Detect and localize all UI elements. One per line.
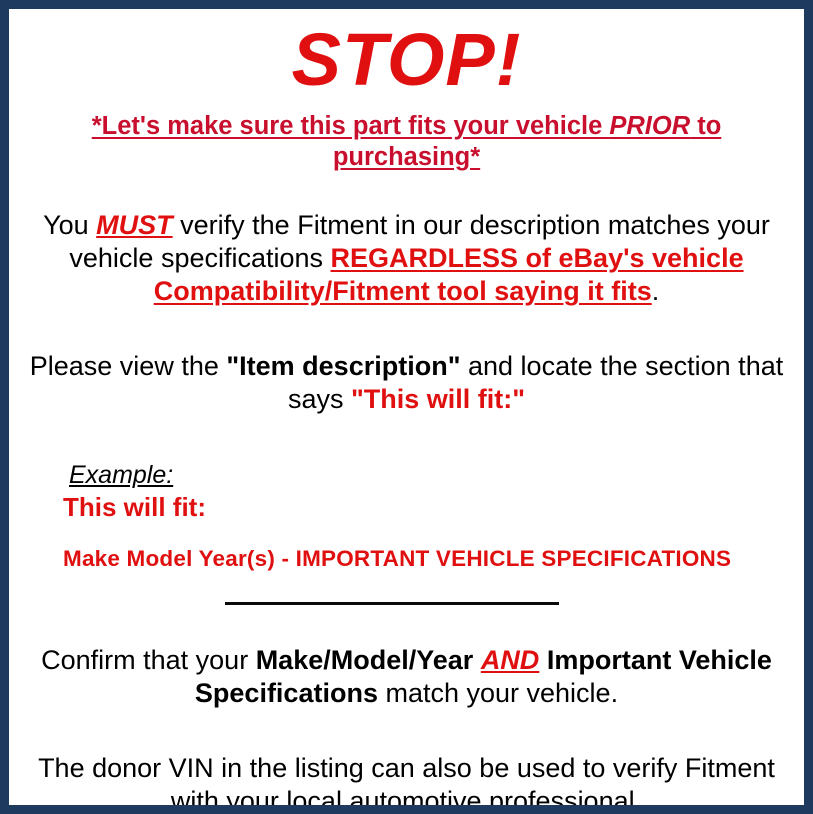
notice-content: STOP! *Let's make sure this part fits yo… [9, 9, 804, 805]
subtitle-line: *Let's make sure this part fits your veh… [21, 111, 792, 172]
stop-title: STOP! [21, 9, 792, 105]
subtitle-emphasis-prior: PRIOR [609, 112, 690, 140]
example-block: Example: This will fit: Make Model Year(… [21, 460, 792, 572]
make-model-year-emphasis: Make/Model/Year [256, 645, 474, 675]
donor-vin-paragraph: The donor VIN in the listing can also be… [21, 752, 792, 814]
example-label: Example: [69, 460, 173, 490]
confirm-space-2 [539, 645, 547, 675]
and-emphasis: AND [481, 645, 540, 675]
confirm-space-1 [473, 645, 481, 675]
view-paragraph-part1: Please view the [30, 351, 227, 381]
must-paragraph-part1: You [43, 210, 96, 240]
must-paragraph-part3: . [652, 276, 660, 306]
example-spec-line: Make Model Year(s) - IMPORTANT VEHICLE S… [63, 545, 792, 572]
fitment-notice-card: STOP! *Let's make sure this part fits yo… [0, 0, 813, 814]
subtitle-prefix: *Let's make sure this part fits your veh… [92, 112, 610, 140]
item-description-emphasis: "Item description" [226, 351, 460, 381]
must-verify-paragraph: You MUST verify the Fitment in our descr… [21, 209, 792, 308]
view-description-paragraph: Please view the "Item description" and l… [21, 350, 792, 416]
confirm-paragraph: Confirm that your Make/Model/Year AND Im… [21, 644, 792, 710]
confirm-part2: match your vehicle. [378, 678, 618, 708]
section-divider [225, 602, 559, 605]
example-fit-heading: This will fit: [63, 492, 792, 523]
this-will-fit-quote: "This will fit:" [351, 384, 525, 414]
divider-wrap [21, 592, 792, 610]
must-emphasis: MUST [96, 210, 173, 240]
confirm-part1: Confirm that your [41, 645, 256, 675]
